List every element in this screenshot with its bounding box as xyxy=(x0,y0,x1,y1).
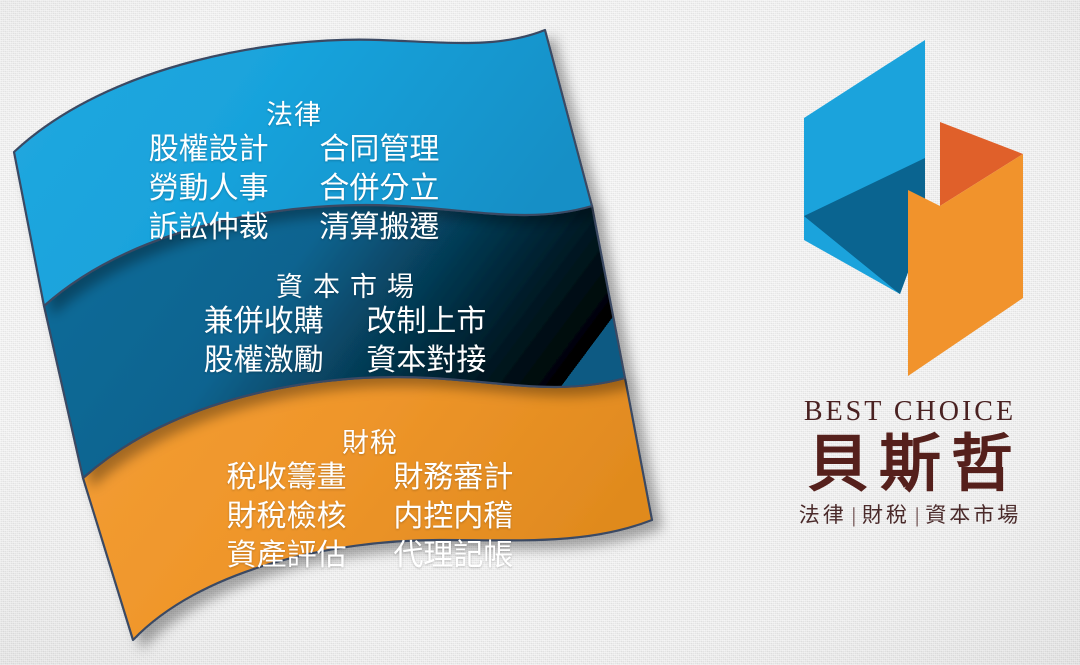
tagline-segment-law: 法律 xyxy=(799,505,847,526)
brand-name-en: BEST CHOICE xyxy=(760,398,1060,426)
band-title-finance-tax: 財稅 xyxy=(175,428,565,458)
band-item: 合同管理 xyxy=(319,130,439,169)
band-item: 資本對接 xyxy=(366,341,486,380)
tagline-separator: | xyxy=(847,505,862,526)
brand-name-cn: 貝斯哲 xyxy=(760,432,1060,499)
band-item: 勞動人事 xyxy=(149,169,269,208)
band-item: 清算搬遷 xyxy=(319,208,439,247)
band-items-law: 股權設計 合同管理 勞動人事 合併分立 訴訟仲裁 清算搬遷 xyxy=(104,130,484,247)
band-item: 内控内稽 xyxy=(393,497,513,536)
band-text-finance-tax: 財稅 稅收籌畫 財務審計 財稅檢核 内控内稽 資產評估 代理記帳 xyxy=(175,428,565,575)
band-title-law: 法律 xyxy=(104,100,484,130)
tagline-separator: | xyxy=(910,505,925,526)
band-item: 財務審計 xyxy=(393,458,513,497)
band-item: 稅收籌畫 xyxy=(227,458,347,497)
band-text-capital-market: 資本市場 兼併收購 改制上市 股權激勵 資本對接 xyxy=(150,272,540,380)
band-items-finance-tax: 稅收籌畫 財務審計 財稅檢核 内控内稽 資產評估 代理記帳 xyxy=(175,458,565,575)
band-item: 兼併收購 xyxy=(204,302,324,341)
logo-wordmark: BEST CHOICE 貝斯哲 法律|財稅|資本市場 xyxy=(760,398,1060,526)
band-item: 股權激勵 xyxy=(204,341,324,380)
band-item: 代理記帳 xyxy=(393,536,513,575)
slide-canvas: 法律 股權設計 合同管理 勞動人事 合併分立 訴訟仲裁 清算搬遷 資本市場 兼 xyxy=(0,0,1080,665)
band-text-law: 法律 股權設計 合同管理 勞動人事 合併分立 訴訟仲裁 清算搬遷 xyxy=(104,100,484,247)
tagline-segment-finance: 財稅 xyxy=(862,505,910,526)
brand-tagline: 法律|財稅|資本市場 xyxy=(760,505,1060,526)
band-item: 資產評估 xyxy=(227,536,347,575)
band-item: 訴訟仲裁 xyxy=(149,208,269,247)
logo-mark-icon xyxy=(780,26,1045,386)
band-item: 合併分立 xyxy=(319,169,439,208)
band-item: 股權設計 xyxy=(149,130,269,169)
band-item: 財稅檢核 xyxy=(227,497,347,536)
band-items-capital-market: 兼併收購 改制上市 股權激勵 資本對接 xyxy=(150,302,540,380)
company-logo: BEST CHOICE 貝斯哲 法律|財稅|資本市場 xyxy=(760,18,1060,558)
band-item: 改制上市 xyxy=(366,302,486,341)
band-title-capital-market: 資本市場 xyxy=(150,272,540,302)
tagline-segment-capital: 資本市場 xyxy=(925,505,1021,526)
